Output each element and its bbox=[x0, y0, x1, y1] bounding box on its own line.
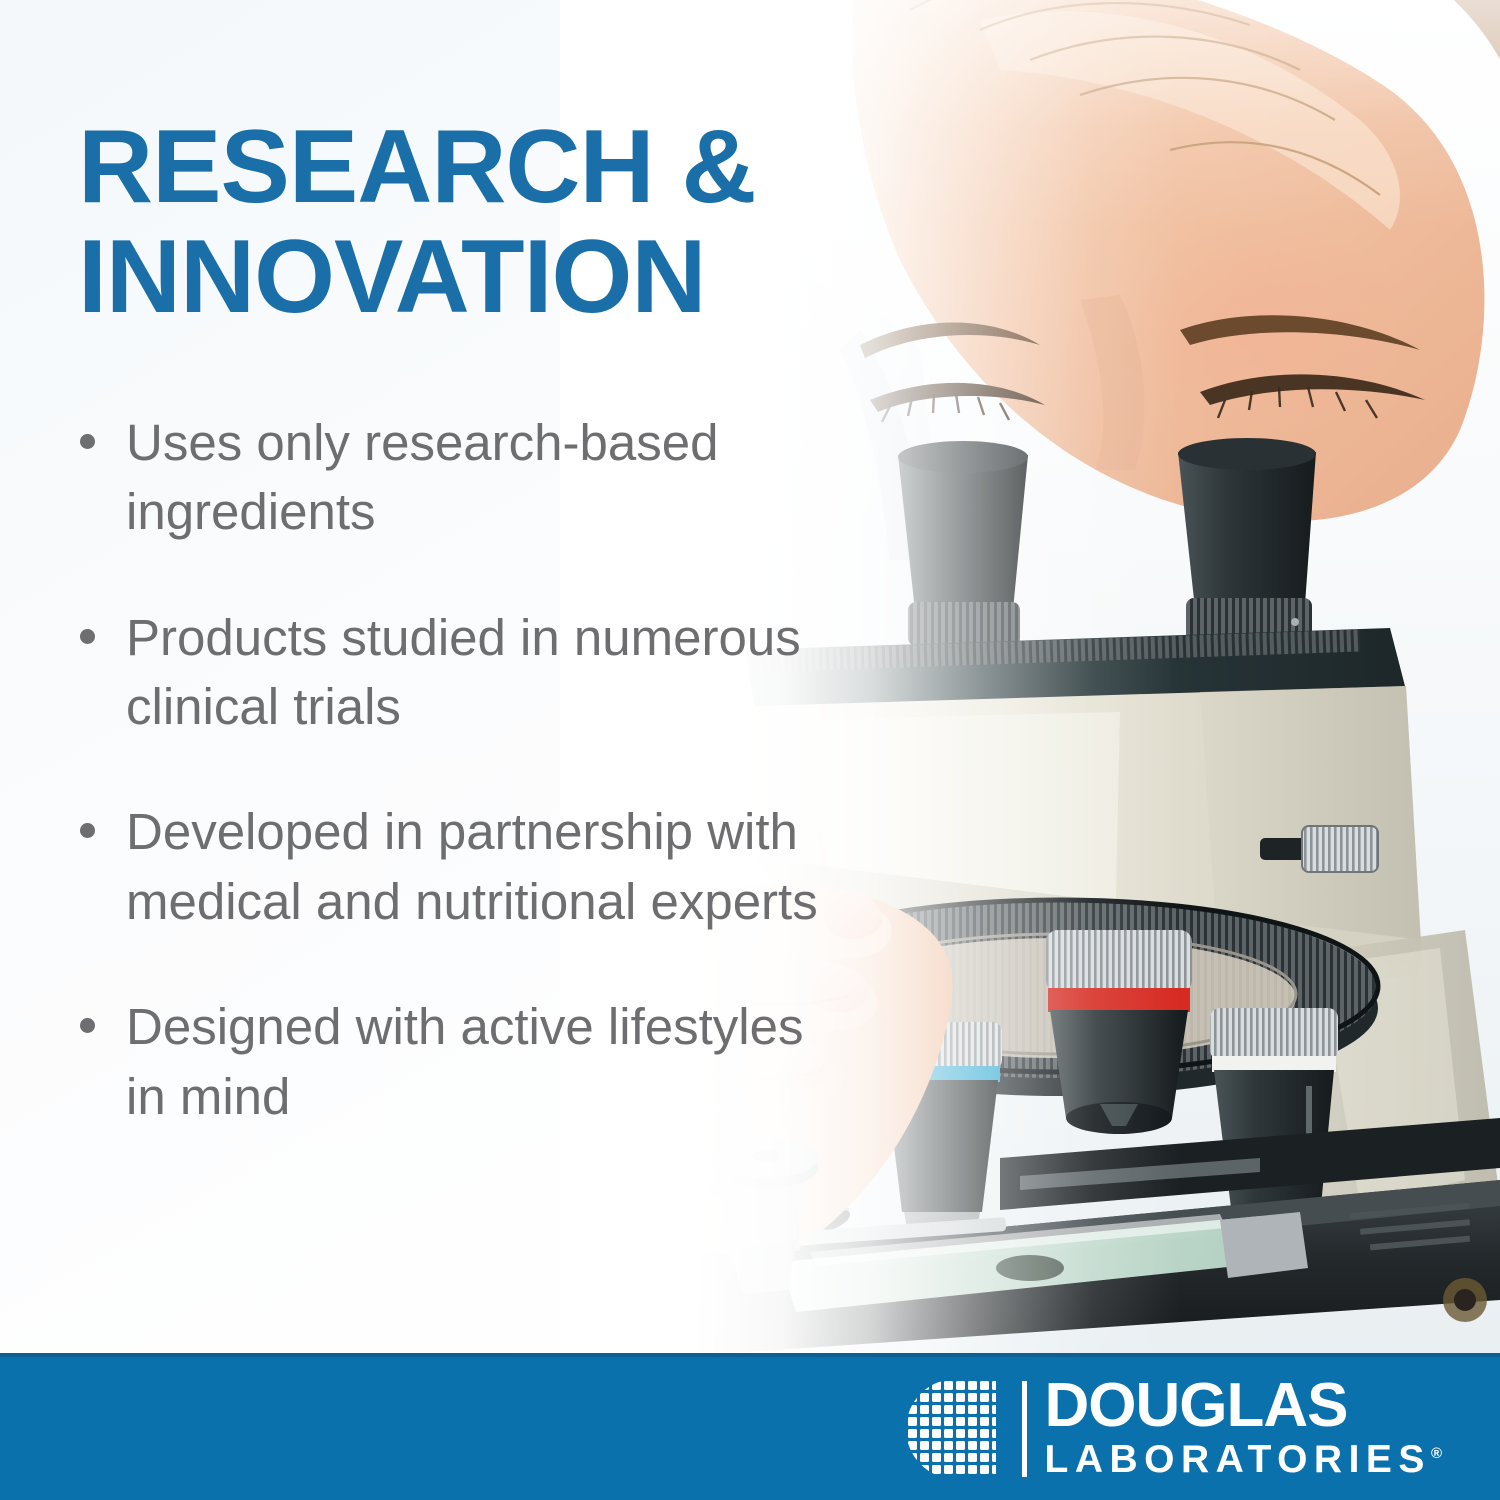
footer-brand-bar: DOUGLAS LABORATORIES® bbox=[0, 1353, 1500, 1500]
list-item-label: Products studied in numerous clinical tr… bbox=[126, 609, 801, 735]
registered-mark-icon: ® bbox=[1431, 1445, 1442, 1462]
list-item-label: Developed in partnership with medical an… bbox=[126, 803, 818, 929]
logo-divider bbox=[1022, 1381, 1027, 1477]
list-item-label: Uses only research-based ingredients bbox=[126, 414, 718, 540]
brand-subname: LABORATORIES® bbox=[1045, 1440, 1442, 1480]
list-item: Uses only research-based ingredients bbox=[78, 408, 838, 547]
brand-subname-text: LABORATORIES bbox=[1045, 1438, 1431, 1481]
page-title: RESEARCH & INNOVATION bbox=[78, 112, 778, 332]
logo-wordmark: DOUGLAS LABORATORIES® bbox=[1045, 1377, 1442, 1479]
bullet-dot-icon bbox=[80, 1018, 95, 1033]
headline-line-2: INNOVATION bbox=[78, 219, 705, 335]
brand-name: DOUGLAS bbox=[1045, 1377, 1442, 1435]
douglas-dot-grid-circle-icon bbox=[904, 1377, 1008, 1481]
bullet-dot-icon bbox=[80, 434, 95, 449]
marketing-poster: RESEARCH & INNOVATION Uses only research… bbox=[0, 0, 1500, 1500]
bullet-dot-icon bbox=[80, 823, 95, 838]
feature-bullet-list: Uses only research-based ingredients Pro… bbox=[78, 408, 838, 1131]
headline-line-1: RESEARCH & bbox=[78, 109, 756, 225]
bullet-dot-icon bbox=[80, 629, 95, 644]
douglas-laboratories-logo: DOUGLAS LABORATORIES® bbox=[904, 1377, 1442, 1481]
list-item: Developed in partnership with medical an… bbox=[78, 797, 838, 936]
list-item: Designed with active lifestyles in mind bbox=[78, 992, 838, 1131]
objective-red bbox=[1046, 930, 1192, 1134]
list-item: Products studied in numerous clinical tr… bbox=[78, 603, 838, 742]
list-item-label: Designed with active lifestyles in mind bbox=[126, 998, 803, 1124]
